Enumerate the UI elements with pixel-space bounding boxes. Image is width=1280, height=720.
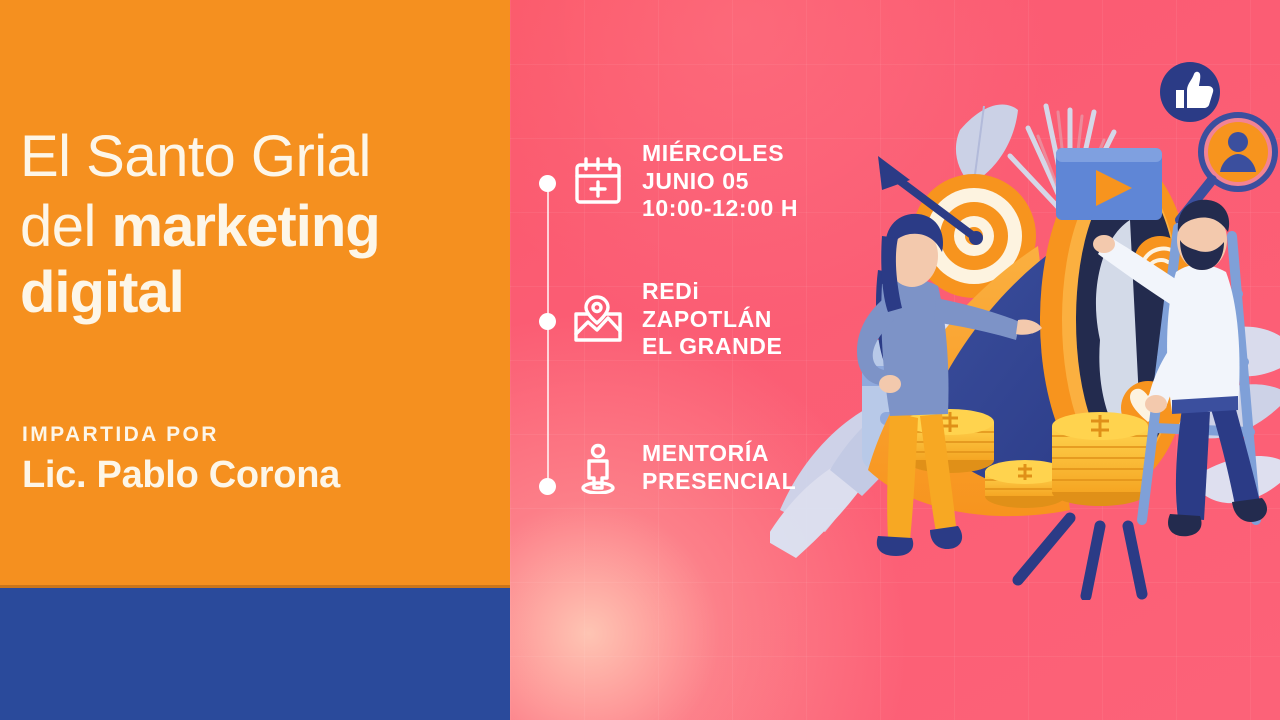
thumbs-up-badge [1160,62,1220,122]
timeline-line [547,183,549,487]
digital-marketing-illustration [770,40,1280,600]
detail-location-line-1: REDi [642,278,782,306]
page-title: El Santo Grial del marketing digital [20,128,500,322]
detail-date-line-2: JUNIO 05 [642,168,798,196]
timeline-connector [539,175,557,495]
headline-line-2: del marketing [20,198,500,256]
promo-poster: El Santo Grial del marketing digital IMP… [0,0,1280,720]
timeline-dot-1 [539,175,556,192]
timeline-dot-2 [539,313,556,330]
person-standing-icon [572,442,624,494]
detail-date-line-1: MIÉRCOLES [642,140,798,168]
presenter-kicker: IMPARTIDA POR [22,424,340,445]
detail-modality-line-1: MENTORÍA [642,440,796,468]
headline-line-3: digital [20,264,500,322]
detail-location-line-2: ZAPOTLÁN [642,306,782,334]
detail-text-location: REDi ZAPOTLÁN EL GRANDE [642,278,782,361]
headline-line-2-plain: del [20,194,112,259]
detail-row-date: MIÉRCOLES JUNIO 05 10:00-12:00 H [572,140,798,223]
detail-modality-line-2: PRESENCIAL [642,468,796,496]
presenter-block: IMPARTIDA POR Lic. Pablo Corona [22,424,340,494]
detail-location-line-3: EL GRANDE [642,333,782,361]
video-play-card [1056,148,1162,220]
presenter-name: Lic. Pablo Corona [22,456,340,494]
detail-row-location: REDi ZAPOTLÁN EL GRANDE [572,278,782,361]
map-pin-icon [572,293,624,345]
calendar-plus-icon [572,155,624,207]
timeline-dot-3 [539,478,556,495]
detail-text-date: MIÉRCOLES JUNIO 05 10:00-12:00 H [642,140,798,223]
headline-line-2-bold: marketing [112,194,380,259]
headline-line-1: El Santo Grial [20,128,500,186]
blue-footer-band [0,588,510,720]
detail-text-modality: MENTORÍA PRESENCIAL [642,440,796,495]
detail-date-line-3: 10:00-12:00 H [642,195,798,223]
detail-row-modality: MENTORÍA PRESENCIAL [572,440,796,495]
